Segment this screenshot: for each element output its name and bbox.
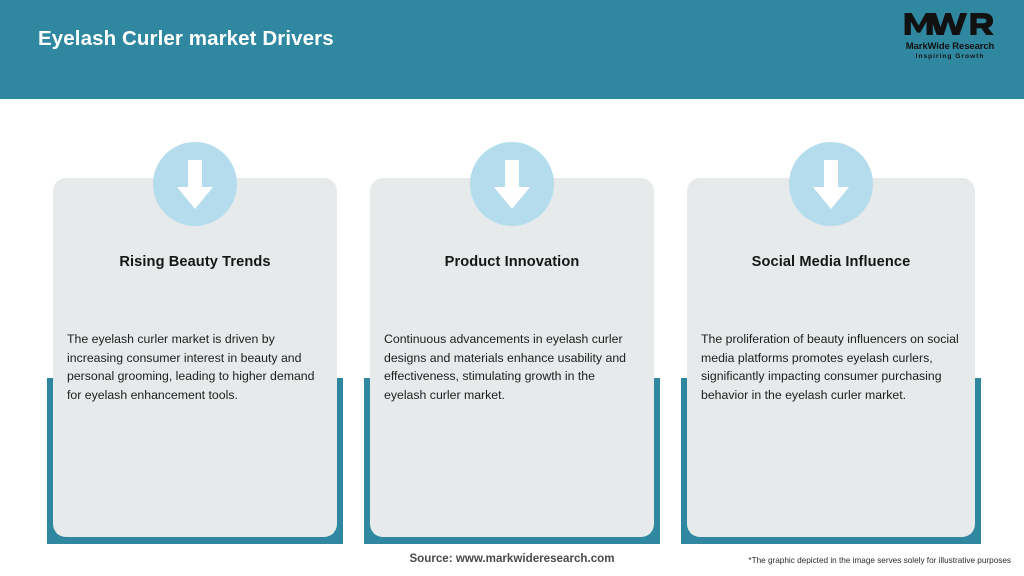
card-body-2: Continuous advancements in eyelash curle… [384, 330, 640, 404]
card-body-3: The proliferation of beauty influencers … [701, 330, 961, 404]
card-body-1: The eyelash curler market is driven by i… [67, 330, 323, 404]
down-arrow-icon-2 [470, 142, 554, 226]
card-title-2: Product Innovation [380, 254, 644, 270]
driver-cards-container: Rising Beauty Trends The eyelash curler … [0, 0, 1024, 576]
driver-card-3[interactable]: Social Media Influence The proliferation… [681, 0, 981, 576]
down-arrow-icon-3 [789, 142, 873, 226]
down-arrow-icon-1 [153, 142, 237, 226]
driver-card-1[interactable]: Rising Beauty Trends The eyelash curler … [47, 0, 343, 576]
card-panel-2: Product Innovation Continuous advancemen… [370, 178, 654, 537]
card-panel-1: Rising Beauty Trends The eyelash curler … [53, 178, 337, 537]
card-panel-3: Social Media Influence The proliferation… [687, 178, 975, 537]
disclaimer-label: *The graphic depicted in the image serve… [748, 556, 1011, 565]
card-title-1: Rising Beauty Trends [63, 254, 327, 270]
card-title-3: Social Media Influence [697, 254, 965, 270]
driver-card-2[interactable]: Product Innovation Continuous advancemen… [364, 0, 660, 576]
